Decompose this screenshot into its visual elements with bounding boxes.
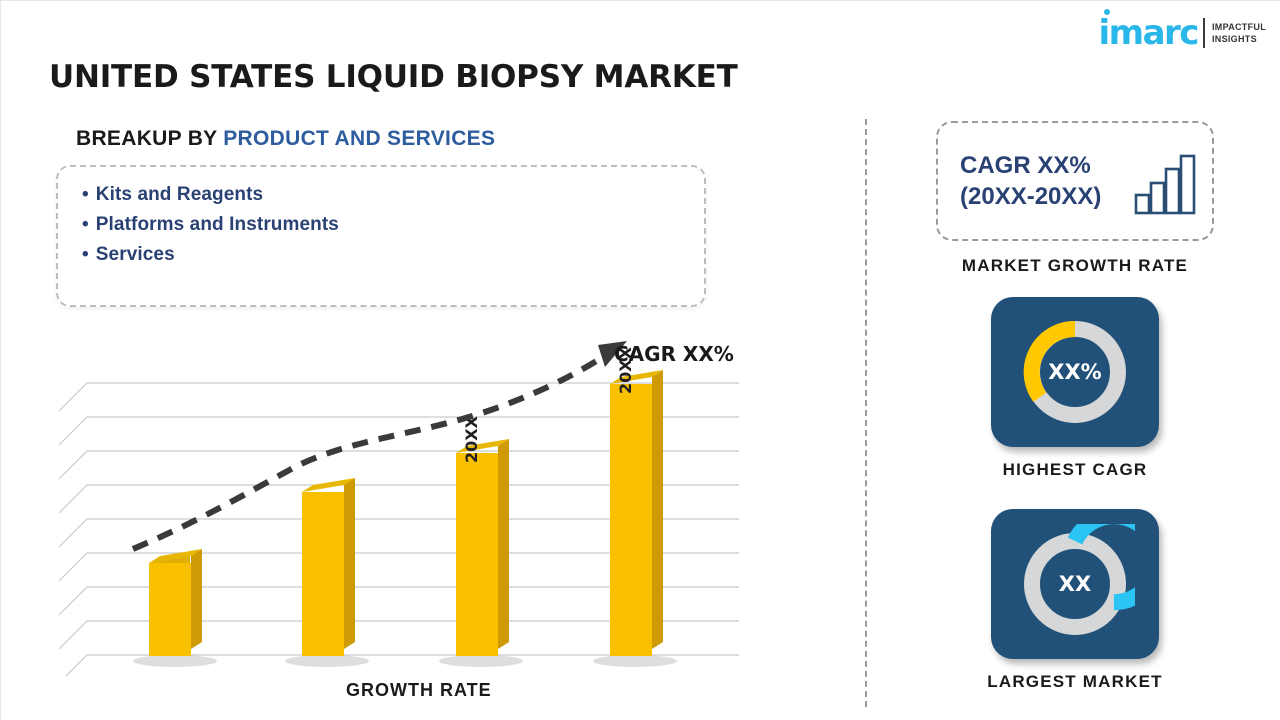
trend-line [133, 341, 627, 549]
list-item: Kits and Reagents [82, 180, 704, 210]
cagr-text: CAGR XX% (20XX-20XX) [960, 150, 1101, 212]
largest-market-card: XX [991, 509, 1159, 659]
growth-rate-chart: 20XX 20XX [49, 331, 749, 676]
largest-market-donut: XX [1015, 524, 1135, 644]
logo-tagline: IMPACTFUL INSIGHTS [1212, 21, 1266, 45]
highest-cagr-donut: XX% [1015, 312, 1135, 432]
logo-divider [1203, 18, 1205, 48]
highest-cagr-value: XX% [1048, 360, 1101, 384]
caption-largest-market: LARGEST MARKET [936, 672, 1214, 692]
caption-market-growth-rate: MARKET GROWTH RATE [936, 256, 1214, 276]
bar-4: 20XX [610, 346, 663, 656]
chart-svg: 20XX 20XX [49, 331, 749, 676]
bar-2 [302, 478, 355, 656]
bar-shadows [133, 655, 677, 667]
logo-tagline-line2: INSIGHTS [1212, 33, 1266, 45]
highest-cagr-card: XX% [991, 297, 1159, 447]
page-title: UNITED STATES LIQUID BIOPSY MARKET [49, 59, 738, 95]
largest-market-value: XX [1059, 572, 1091, 596]
bar-chart-icon [1134, 153, 1196, 215]
bar-1 [149, 549, 202, 656]
logo-wordmark: imarc [1099, 16, 1198, 50]
imarc-logo: imarc IMPACTFUL INSIGHTS [1099, 13, 1266, 53]
section-subtitle: BREAKUP BY PRODUCT AND SERVICES [76, 127, 495, 151]
logo-text: imarc [1099, 13, 1198, 53]
panel-divider [865, 119, 867, 707]
logo-dot-icon [1104, 9, 1110, 15]
list-item: Platforms and Instruments [82, 210, 704, 240]
chart-axis-caption: GROWTH RATE [346, 680, 492, 701]
subtitle-accent: PRODUCT AND SERVICES [223, 127, 495, 150]
chart-cagr-label: CAGR XX% [614, 342, 734, 366]
caption-highest-cagr: HIGHEST CAGR [936, 460, 1214, 480]
bar-label-3: 20XX [462, 415, 481, 463]
subtitle-prefix: BREAKUP BY [76, 127, 223, 150]
list-item: Services [82, 240, 704, 270]
breakup-list: Kits and Reagents Platforms and Instrume… [58, 167, 704, 270]
market-growth-rate-box: CAGR XX% (20XX-20XX) [936, 121, 1214, 241]
cagr-line-2: (20XX-20XX) [960, 181, 1101, 212]
breakup-list-box: Kits and Reagents Platforms and Instrume… [56, 165, 706, 307]
logo-tagline-line1: IMPACTFUL [1212, 21, 1266, 33]
infographic-page: imarc IMPACTFUL INSIGHTS UNITED STATES L… [0, 0, 1280, 720]
cagr-line-1: CAGR XX% [960, 150, 1101, 181]
